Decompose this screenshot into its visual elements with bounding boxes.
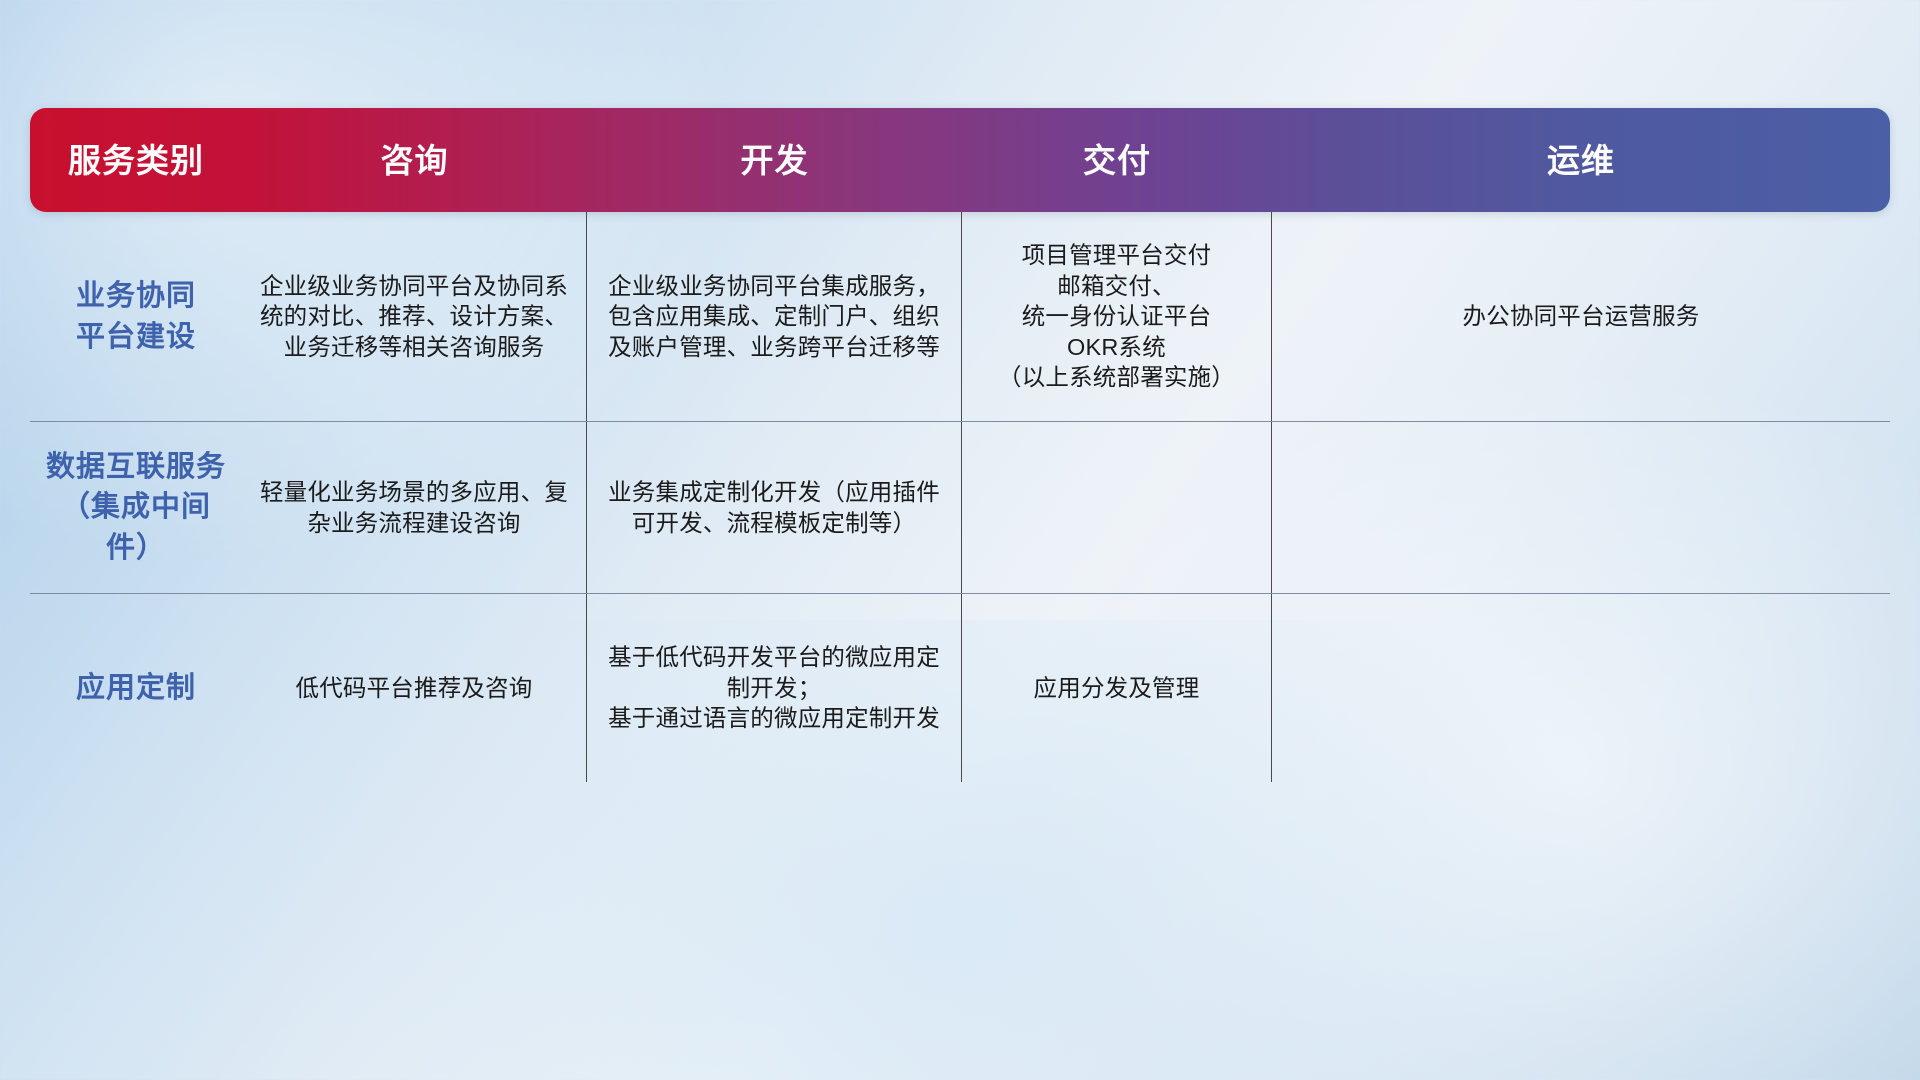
column-header-category: 服务类别 bbox=[30, 144, 242, 177]
cell-category: 业务协同 平台建设 bbox=[30, 212, 242, 421]
cell-delivery: 项目管理平台交付 邮箱交付、 统一身份认证平台 OKR系统 （以上系统部署实施） bbox=[962, 212, 1272, 421]
cell-operations bbox=[1272, 594, 1890, 782]
service-matrix-table: 服务类别 咨询 开发 交付 运维 业务协同 平台建设 企业级业务协同平台及协同系… bbox=[30, 108, 1890, 778]
cell-consulting: 企业级业务协同平台及协同系 统的对比、推荐、设计方案、 业务迁移等相关咨询服务 bbox=[242, 212, 587, 421]
table-header-row: 服务类别 咨询 开发 交付 运维 bbox=[30, 108, 1890, 212]
cell-operations: 办公协同平台运营服务 bbox=[1272, 212, 1890, 421]
column-header-consulting: 咨询 bbox=[242, 144, 587, 177]
table-row: 业务协同 平台建设 企业级业务协同平台及协同系 统的对比、推荐、设计方案、 业务… bbox=[30, 212, 1890, 422]
cell-operations bbox=[1272, 422, 1890, 593]
table-body: 业务协同 平台建设 企业级业务协同平台及协同系 统的对比、推荐、设计方案、 业务… bbox=[30, 212, 1890, 782]
column-header-development: 开发 bbox=[587, 144, 962, 177]
table-row: 数据互联服务 （集成中间件） 轻量化业务场景的多应用、复 杂业务流程建设咨询 业… bbox=[30, 422, 1890, 594]
cell-category: 应用定制 bbox=[30, 594, 242, 782]
cell-consulting: 低代码平台推荐及咨询 bbox=[242, 594, 587, 782]
column-header-operations: 运维 bbox=[1272, 144, 1890, 177]
table-row: 应用定制 低代码平台推荐及咨询 基于低代码开发平台的微应用定 制开发； 基于通过… bbox=[30, 594, 1890, 782]
cell-category: 数据互联服务 （集成中间件） bbox=[30, 422, 242, 593]
cell-delivery bbox=[962, 422, 1272, 593]
cell-delivery: 应用分发及管理 bbox=[962, 594, 1272, 782]
cell-development: 基于低代码开发平台的微应用定 制开发； 基于通过语言的微应用定制开发 bbox=[587, 594, 962, 782]
column-header-delivery: 交付 bbox=[962, 144, 1272, 177]
cell-consulting: 轻量化业务场景的多应用、复 杂业务流程建设咨询 bbox=[242, 422, 587, 593]
cell-development: 企业级业务协同平台集成服务， 包含应用集成、定制门户、组织 及账户管理、业务跨平… bbox=[587, 212, 962, 421]
cell-development: 业务集成定制化开发（应用插件 可开发、流程模板定制等） bbox=[587, 422, 962, 593]
